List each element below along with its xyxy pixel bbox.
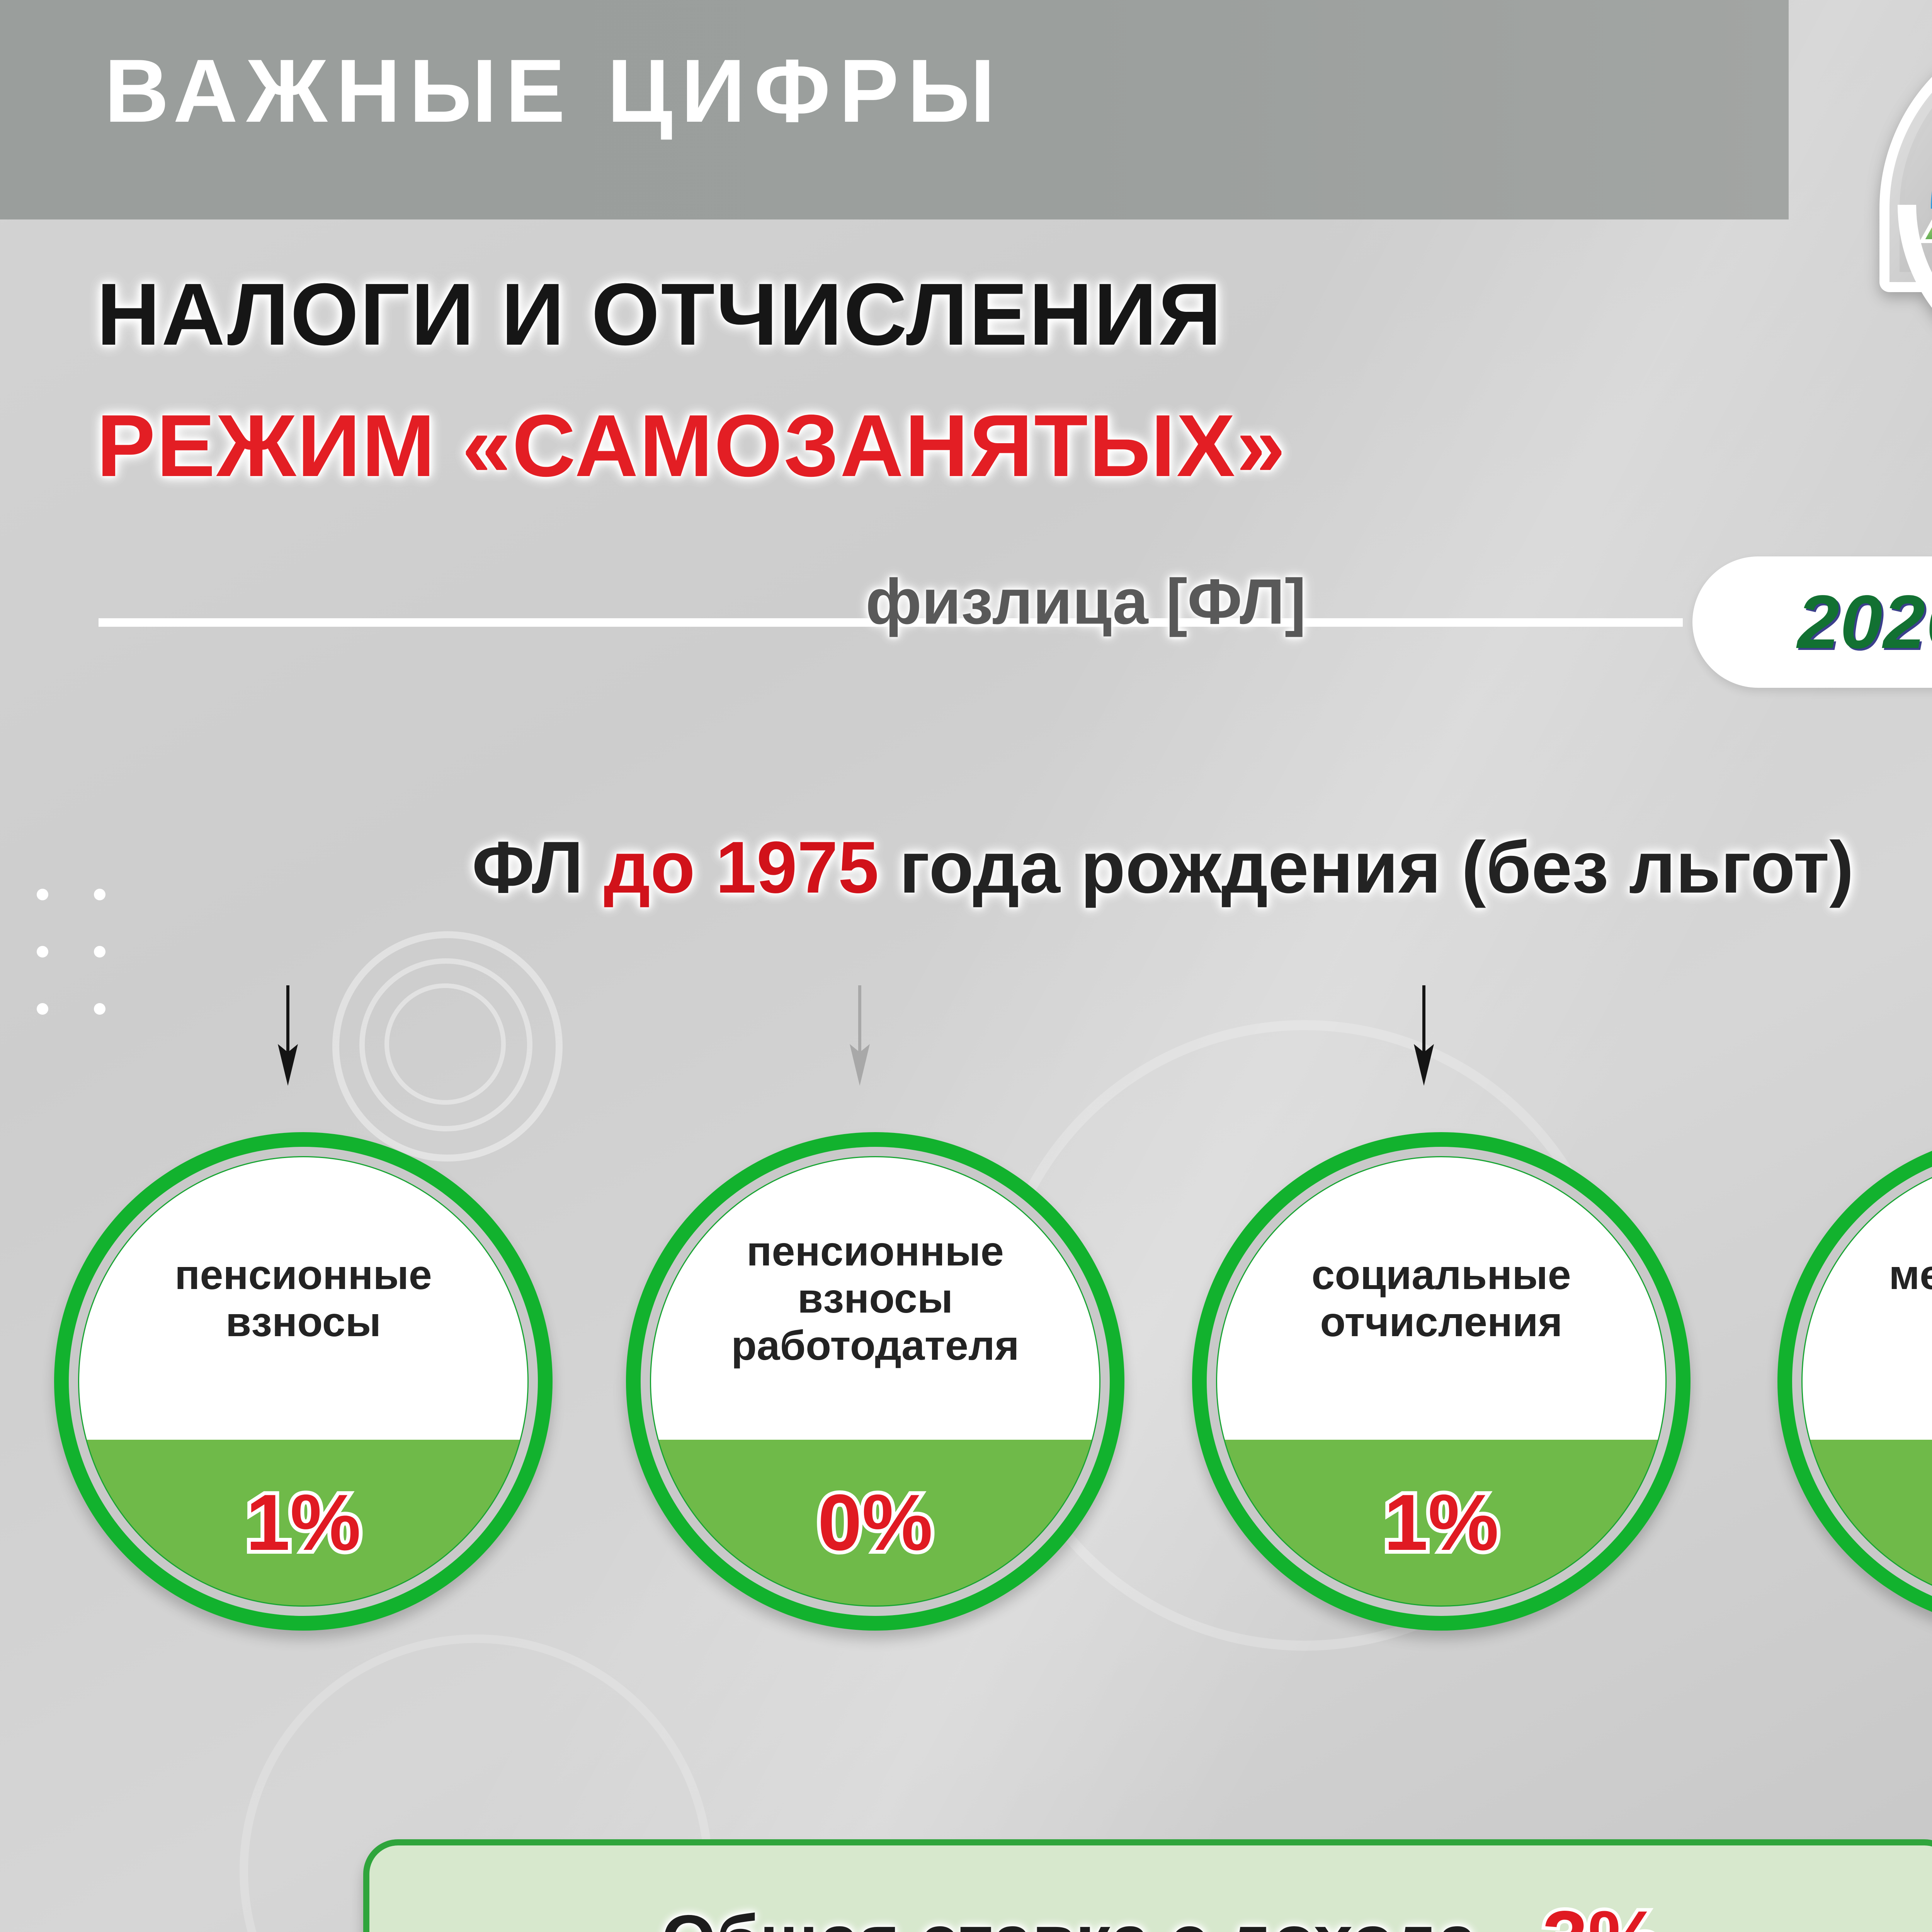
section-heading-suffix: года рождения (без льгот) <box>879 827 1854 908</box>
rate-circle-value: 1% <box>1803 1440 1932 1605</box>
rate-circle-value: 1% <box>1217 1440 1665 1605</box>
section-heading-highlight: до 1975 <box>604 827 879 908</box>
header-kicker: ВАЖНЫЕ ЦИФРЫ <box>104 46 1003 136</box>
rate-circle-face: социальныеотчисления 1% <box>1216 1156 1667 1607</box>
rate-circle-label: пенсионныевзносы <box>79 1157 527 1440</box>
rate-circle-ring: пенсионныевзносыработодателя 0% <box>641 1147 1110 1616</box>
year-badge: 2026 год <box>1692 556 1932 688</box>
rate-circle-value: 1% <box>79 1440 527 1605</box>
rates-circle-row: пенсионныевзносы 1% пенсионныевзносырабо… <box>0 1132 1932 1650</box>
total-rate-bar: Общая ставка с дохода 3% <box>363 1839 1932 1932</box>
decorative-dots-left <box>37 889 105 1015</box>
company-logo: БИЗНЕСКЕҚЫЗМЕТКӨРСЕТУОРТАЛЫҒЫ АКТИВ ЦЕНТ… <box>1843 4 1932 394</box>
rate-circle-label: медицинскиевзносы <box>1803 1157 1932 1440</box>
infographic-poster: ВАЖНЫЕ ЦИФРЫ <box>0 0 1932 1932</box>
rate-circle-label: пенсионныевзносыработодателя <box>651 1157 1099 1440</box>
arrow-down-1 <box>265 985 311 1086</box>
rate-circle-ring: медицинскиевзносы 1% <box>1792 1147 1932 1616</box>
rate-circle-pension[interactable]: пенсионныевзносы 1% <box>54 1132 553 1631</box>
rate-circle-ring: пенсионныевзносы 1% <box>69 1147 538 1616</box>
rate-circle-face: пенсионныевзносы 1% <box>78 1156 529 1607</box>
rate-circle-value: 0% <box>651 1440 1099 1605</box>
page-title-line2: РЕЖИМ «САМОЗАНЯТЫХ» <box>97 402 1286 490</box>
background-ring-middle <box>359 958 532 1131</box>
logo-wordmark: АКТИВ <box>1913 166 1932 255</box>
arrow-down-2 <box>837 985 883 1086</box>
rate-circle-social[interactable]: социальныеотчисления 1% <box>1192 1132 1690 1631</box>
logo-plate: БИЗНЕСКЕҚЫЗМЕТКӨРСЕТУОРТАЛЫҒЫ АКТИВ ЦЕНТ… <box>1859 12 1932 383</box>
arrow-down-3 <box>1401 985 1447 1086</box>
background-ring-inner <box>384 983 506 1105</box>
subtitle-text: физлица [ФЛ] <box>866 570 1306 634</box>
rate-circle-label: социальныеотчисления <box>1217 1157 1665 1440</box>
logo-wordmark-text: АКТИВ <box>1924 161 1932 260</box>
rate-circle-face: медицинскиевзносы 1% <box>1801 1156 1932 1607</box>
year-badge-text: 2026 год <box>1797 584 1932 660</box>
rate-circle-medical[interactable]: медицинскиевзносы 1% <box>1777 1132 1932 1631</box>
rate-circle-employer-pension[interactable]: пенсионныевзносыработодателя 0% <box>626 1132 1124 1631</box>
rate-circle-ring: социальныеотчисления 1% <box>1207 1147 1676 1616</box>
page-title-line1: НАЛОГИ И ОТЧИСЛЕНИЯ <box>97 270 1223 359</box>
total-rate-label: Общая ставка с дохода <box>662 1905 1477 1932</box>
total-rate-value: 3% <box>1543 1899 1661 1932</box>
section-heading-prefix: ФЛ <box>472 827 604 908</box>
rate-circle-face: пенсионныевзносыработодателя 0% <box>650 1156 1100 1607</box>
background-ring-outer <box>332 931 563 1162</box>
section-heading: ФЛ до 1975 года рождения (без льгот) <box>0 831 1932 904</box>
